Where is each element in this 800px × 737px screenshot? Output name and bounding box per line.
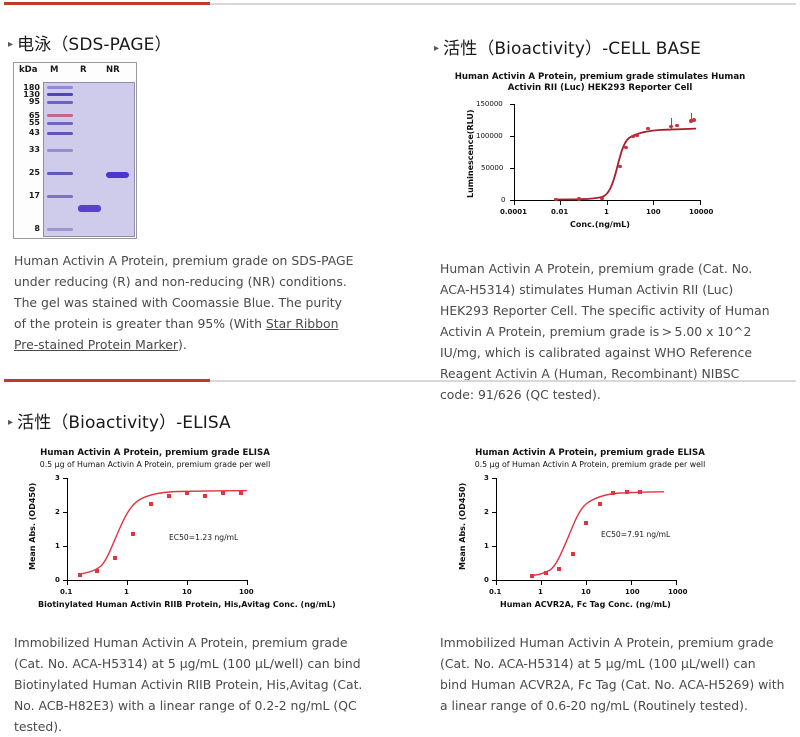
data-point bbox=[131, 532, 135, 536]
data-point bbox=[544, 571, 548, 575]
y-ticklabel-1: 1 bbox=[484, 542, 489, 550]
x-ticklabel-1: 1 bbox=[124, 588, 129, 596]
section-divider-top bbox=[4, 2, 796, 5]
x-ticklabel-0.0001: 0.0001 bbox=[500, 208, 527, 216]
y-ticklabel-0: 0 bbox=[55, 576, 60, 584]
divider-rule-segment bbox=[210, 3, 796, 5]
data-point bbox=[239, 491, 243, 495]
x-ticklabel-1: 1 bbox=[604, 208, 609, 216]
gel-lane-label-row: kDa M R NR bbox=[14, 65, 136, 81]
data-point bbox=[149, 502, 153, 506]
x-ticklabel-1000: 1000 bbox=[668, 588, 687, 596]
elisa-left-plot-area: 0 1 2 3 0.1 1 10 100 bbox=[67, 478, 247, 580]
marker-band-130 bbox=[47, 93, 73, 96]
elisa-left-chart: Human Activin A Protein, premium grade E… bbox=[10, 448, 300, 613]
y-axis-title: Luminescence(RLU) bbox=[466, 109, 475, 198]
x-ticklabel-0.01: 0.01 bbox=[551, 208, 568, 216]
section-header-cell-base: ▸活性（Bioactivity）-CELL BASE bbox=[434, 34, 701, 59]
sds-page-caption: Human Activin A Protein, premium grade o… bbox=[14, 250, 354, 355]
y-ticklabel-3: 3 bbox=[55, 474, 60, 482]
y-axis-title: Mean Abs. (OD450) bbox=[458, 483, 467, 570]
data-point bbox=[675, 124, 679, 128]
mw-label-55: 55 bbox=[29, 119, 40, 127]
mw-label-17: 17 bbox=[29, 192, 40, 200]
cell-base-bioactivity-chart: Human Activin A Protein, premium grade s… bbox=[440, 70, 760, 240]
divider-rule-segment bbox=[210, 380, 796, 382]
triangle-right-icon: ▸ bbox=[434, 43, 439, 54]
mw-label-25: 25 bbox=[29, 169, 40, 177]
elisa-left-title: Human Activin A Protein, premium grade E… bbox=[10, 448, 300, 459]
gel-lane-label-r: R bbox=[80, 65, 87, 75]
mw-label-43: 43 bbox=[29, 129, 40, 137]
mw-label-33: 33 bbox=[29, 146, 40, 154]
section-header-sds-page: ▸电泳（SDS-PAGE） bbox=[8, 30, 172, 55]
data-point bbox=[167, 494, 171, 498]
marker-band-17 bbox=[47, 195, 73, 198]
fitted-curve bbox=[514, 104, 704, 204]
mw-label-95: 95 bbox=[29, 98, 40, 106]
x-ticklabel-1: 1 bbox=[538, 588, 543, 596]
y-axis-title: Mean Abs. (OD450) bbox=[28, 483, 37, 570]
data-point bbox=[600, 197, 604, 201]
marker-band-180 bbox=[47, 86, 73, 89]
y-ticklabel-100000: 100000 bbox=[476, 132, 503, 140]
y-ticklabel-50000: 50000 bbox=[481, 164, 503, 172]
divider-accent-segment bbox=[4, 2, 210, 5]
elisa-right-chart: Human Activin A Protein, premium grade E… bbox=[440, 448, 740, 613]
y-ticklabel-0: 0 bbox=[501, 196, 505, 204]
chart-title-line2: Activin RII (Luc) HEK293 Reporter Cell bbox=[440, 83, 760, 94]
elisa-right-title: Human Activin A Protein, premium grade E… bbox=[440, 448, 740, 459]
section-title-cell-base: 活性（Bioactivity）-CELL BASE bbox=[443, 39, 701, 59]
datasheet-page: ▸电泳（SDS-PAGE） kDa M R NR 180 130 95 65 5… bbox=[0, 0, 800, 731]
sds-page-gel-image: kDa M R NR 180 130 95 65 55 43 33 25 17 … bbox=[13, 62, 137, 239]
data-point bbox=[221, 491, 225, 495]
data-point bbox=[646, 127, 650, 131]
cell-base-plot-area: 0 50000 100000 150000 0.0001 0.01 1 100 … bbox=[514, 104, 700, 200]
y-ticklabel-2: 2 bbox=[484, 508, 489, 516]
elisa-left-subtitle: 0.5 µg of Human Activin A Protein, premi… bbox=[10, 460, 300, 470]
marker-band-65 bbox=[47, 114, 73, 117]
gel-lane-label-kda: kDa bbox=[19, 65, 37, 75]
sample-band-reduced bbox=[78, 205, 101, 212]
data-point bbox=[618, 165, 622, 169]
gel-molecular-weight-axis: 180 130 95 65 55 43 33 25 17 8 bbox=[14, 82, 43, 237]
error-bar bbox=[671, 118, 672, 129]
data-point bbox=[625, 490, 629, 494]
ec50-annotation: EC50=7.91 ng/mL bbox=[601, 530, 670, 539]
data-point bbox=[577, 197, 581, 201]
ec50-annotation: EC50=1.23 ng/mL bbox=[169, 533, 238, 542]
data-point bbox=[95, 569, 99, 573]
y-ticklabel-0: 0 bbox=[484, 576, 489, 584]
section-title-sds-page: 电泳（SDS-PAGE） bbox=[17, 35, 171, 55]
x-axis-title: Conc.(ng/mL) bbox=[570, 220, 630, 229]
sample-band-non-reduced bbox=[106, 172, 129, 178]
x-ticklabel-10000: 10000 bbox=[689, 208, 713, 216]
x-axis-title: Biotinylated Human Activin RIIB Protein,… bbox=[38, 600, 336, 609]
marker-band-55 bbox=[47, 122, 73, 125]
chart-title-line1: Human Activin A Protein, premium grade s… bbox=[440, 72, 760, 83]
marker-band-43 bbox=[47, 132, 73, 135]
elisa-left-caption: Immobilized Human Activin A Protein, pre… bbox=[14, 632, 364, 737]
marker-band-25 bbox=[47, 172, 73, 175]
data-point bbox=[598, 502, 602, 506]
marker-band-8 bbox=[47, 228, 73, 231]
data-point bbox=[584, 521, 588, 525]
data-point bbox=[203, 494, 207, 498]
gel-lane-label-m: M bbox=[50, 65, 58, 75]
x-ticklabel-10: 10 bbox=[581, 588, 591, 596]
data-point bbox=[571, 552, 575, 556]
marker-band-33 bbox=[47, 149, 73, 152]
data-point bbox=[611, 491, 615, 495]
mw-label-8: 8 bbox=[34, 225, 40, 233]
y-ticklabel-2: 2 bbox=[55, 508, 60, 516]
y-ticklabel-1: 1 bbox=[55, 542, 60, 550]
marker-band-95 bbox=[47, 101, 73, 104]
data-point bbox=[113, 556, 117, 560]
data-point bbox=[78, 573, 82, 577]
elisa-right-subtitle: 0.5 µg of Human Activin A Protein, premi… bbox=[440, 460, 740, 470]
data-point bbox=[635, 134, 639, 138]
data-point bbox=[638, 490, 642, 494]
x-ticklabel-100: 100 bbox=[646, 208, 661, 216]
caption-text-after-link: ). bbox=[178, 337, 187, 352]
gel-lane-label-nr: NR bbox=[106, 65, 120, 75]
x-ticklabel-0.1: 0.1 bbox=[489, 588, 501, 596]
data-point bbox=[557, 567, 561, 571]
elisa-right-caption: Immobilized Human Activin A Protein, pre… bbox=[440, 632, 785, 716]
triangle-right-icon: ▸ bbox=[8, 39, 13, 50]
gel-lanes-area bbox=[43, 82, 135, 237]
y-ticklabel-150000: 150000 bbox=[476, 100, 503, 108]
divider-accent-segment bbox=[4, 379, 210, 382]
data-point bbox=[554, 198, 558, 202]
x-ticklabel-100: 100 bbox=[239, 588, 254, 596]
x-axis-title: Human ACVR2A, Fc Tag Conc. (ng/mL) bbox=[500, 600, 671, 609]
x-ticklabel-10: 10 bbox=[182, 588, 192, 596]
y-ticklabel-3: 3 bbox=[484, 474, 489, 482]
section-header-elisa: ▸活性（Bioactivity）-ELISA bbox=[8, 408, 231, 433]
elisa-right-plot-area: 0 1 2 3 0.1 1 10 100 1000 bbox=[496, 478, 676, 580]
data-point bbox=[692, 118, 696, 122]
section-divider-middle bbox=[4, 379, 796, 382]
triangle-right-icon: ▸ bbox=[8, 417, 13, 428]
x-ticklabel-0.1: 0.1 bbox=[60, 588, 72, 596]
data-point bbox=[185, 491, 189, 495]
data-point bbox=[624, 146, 628, 150]
x-ticklabel-100: 100 bbox=[625, 588, 640, 596]
data-point bbox=[530, 574, 534, 578]
section-title-elisa: 活性（Bioactivity）-ELISA bbox=[17, 413, 231, 433]
cell-base-caption: Human Activin A Protein, premium grade (… bbox=[440, 258, 770, 405]
